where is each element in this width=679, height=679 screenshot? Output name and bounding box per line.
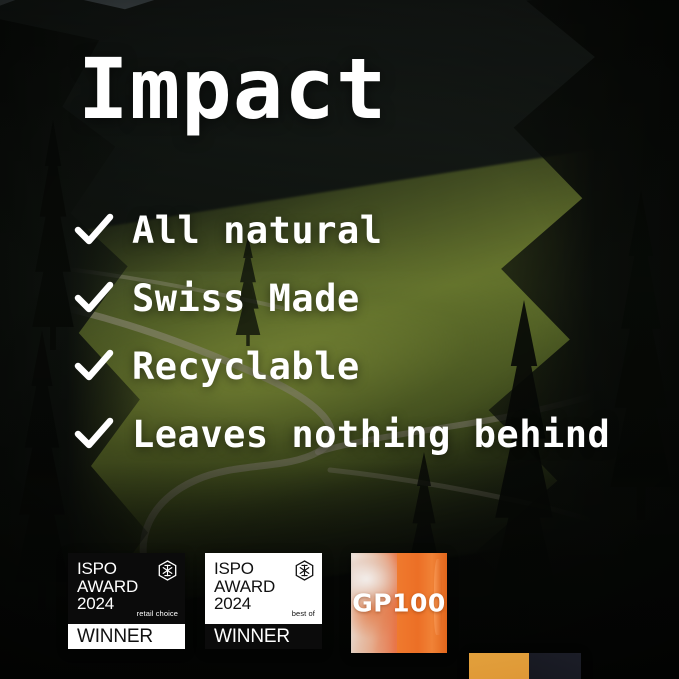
award-badge-gear-patrol-outdoor: GEAR PATROL utdoor25 AWARDS (469, 653, 581, 679)
list-item: Recyclable (74, 332, 610, 400)
award-badge-ispo-best-of: ISPO AWARD 2024 best of (205, 553, 322, 649)
check-icon (74, 211, 114, 249)
badge-gp100-label: GP100 (351, 589, 447, 618)
page-title: Impact (78, 47, 387, 131)
badge-body: ISPO AWARD 2024 retail choice (68, 553, 185, 624)
award-badge-row: ISPO AWARD 2024 retail choice (0, 553, 679, 657)
check-icon (74, 347, 114, 385)
award-badge-gp100: GP100 (351, 553, 447, 653)
badge-kicker: best of (292, 609, 315, 618)
list-item-label: All natural (132, 209, 383, 252)
check-icon (74, 415, 114, 453)
ispo-hex-snowflake-icon (158, 560, 177, 581)
list-item: Leaves nothing behind (74, 400, 610, 468)
award-badge-ispo-retail-choice: ISPO AWARD 2024 retail choice (68, 553, 185, 649)
badge-winner-label: WINNER (205, 624, 322, 649)
list-item-label: Swiss Made (132, 277, 360, 320)
badge-kicker: retail choice (137, 609, 178, 618)
list-item-label: Leaves nothing behind (132, 413, 610, 456)
feature-checklist: All natural Swiss Made Recyclable (74, 196, 610, 468)
check-icon (74, 279, 114, 317)
ispo-hex-snowflake-icon (295, 560, 314, 581)
list-item: Swiss Made (74, 264, 610, 332)
list-item: All natural (74, 196, 610, 264)
badge-winner-label: WINNER (68, 624, 185, 649)
product-impact-card: Impact All natural Swiss Made (0, 0, 679, 679)
badge-body: ISPO AWARD 2024 best of (205, 553, 322, 624)
list-item-label: Recyclable (132, 345, 360, 388)
